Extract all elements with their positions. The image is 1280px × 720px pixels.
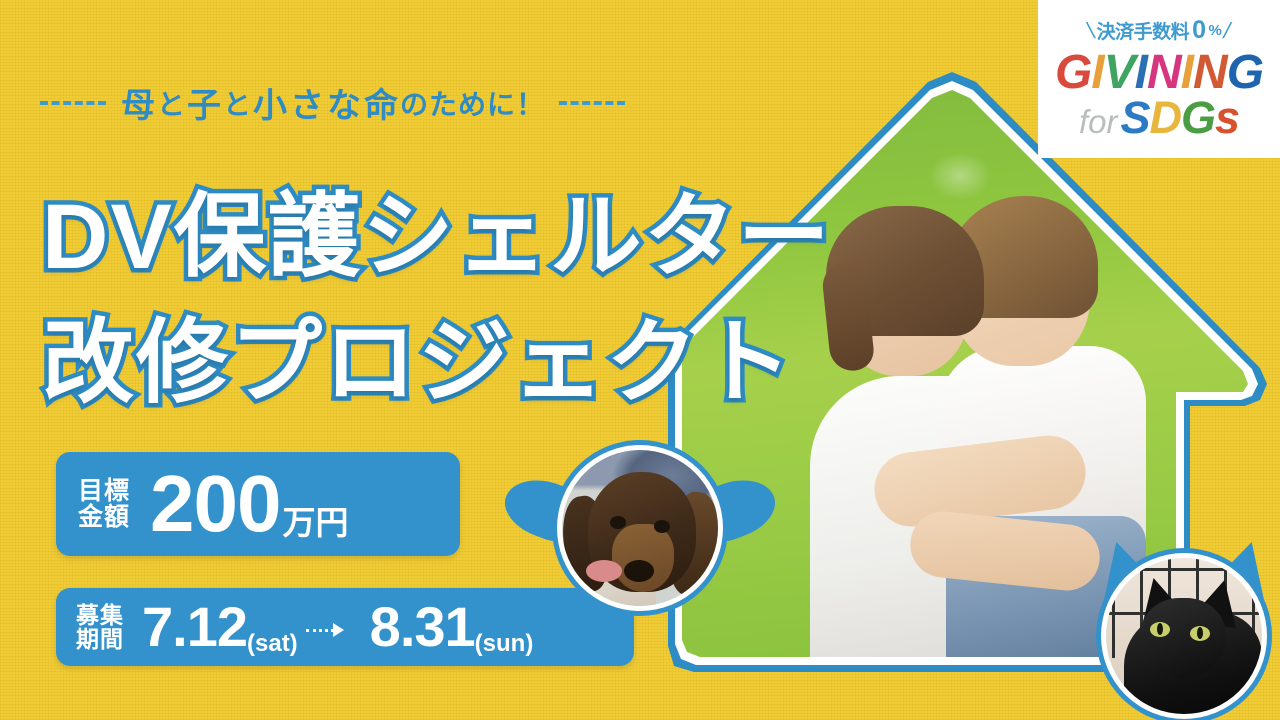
tagline-part-8: のために！ xyxy=(400,83,545,123)
giving-letter-6: N xyxy=(1193,49,1227,97)
fee-slash-right-icon: / xyxy=(1221,18,1233,44)
period-start-dow: (sat) xyxy=(247,630,298,658)
cat-head xyxy=(1140,598,1226,678)
payment-fee-badge: \ 決済手数料 0 % / xyxy=(1088,16,1230,45)
dashed-line-right-icon xyxy=(559,101,625,105)
giving-letter-3: I xyxy=(1135,49,1147,97)
tagline-part-3: と xyxy=(223,83,252,123)
goal-amount-box: 目標 金額 200 万円 xyxy=(56,452,460,556)
sdgs-letters: SDGs xyxy=(1120,95,1239,140)
goal-label-line2: 金額 xyxy=(78,504,130,531)
giving-letter-1: I xyxy=(1091,49,1103,97)
fee-percent-sign: % xyxy=(1209,22,1222,39)
sdgs-letter-1: D xyxy=(1149,95,1181,140)
period-label-line1: 募集 xyxy=(76,603,124,627)
dog-nose xyxy=(624,560,654,582)
cage-bar-horizontal-0 xyxy=(1106,568,1262,571)
cat-pupil-left xyxy=(1157,623,1163,635)
dog-photo-badge xyxy=(552,440,728,616)
dog-eye-left xyxy=(610,516,626,529)
page-title-line1: DV保護シェルター xyxy=(42,162,832,295)
cat-pupil-right xyxy=(1197,627,1203,639)
campaign-poster: \ 決済手数料 0 % / GIVINING for SDGs 母と子と小さな命… xyxy=(0,0,1280,720)
dog-tongue xyxy=(586,560,622,582)
for-sdgs-wordmark: for SDGs xyxy=(1079,95,1239,140)
tagline-row: 母と子と小さな命のために！ xyxy=(40,78,625,127)
fee-slash-left-icon: \ xyxy=(1085,18,1097,44)
giving-letter-0: G xyxy=(1055,49,1091,97)
dog-muzzle xyxy=(612,524,674,592)
giving-letter-2: V xyxy=(1104,49,1135,97)
tagline-part-7: 命 xyxy=(363,78,400,127)
arrow-head xyxy=(333,623,344,637)
tagline-part-2: 子 xyxy=(186,78,223,127)
arrow-right-icon xyxy=(306,623,344,637)
cat-photo xyxy=(1106,558,1262,714)
dashed-line-left-icon xyxy=(40,101,106,105)
period-end-date: 8.31 xyxy=(370,599,475,655)
tagline-part-6: な xyxy=(326,78,363,127)
goal-amount-unit: 万円 xyxy=(283,496,349,544)
tagline-part-1: と xyxy=(157,83,186,123)
giving-letter-5: I xyxy=(1181,49,1193,97)
dog-photo xyxy=(562,450,718,606)
goal-label: 目標 金額 xyxy=(78,478,130,531)
giving-letter-4: N xyxy=(1147,49,1181,97)
tagline-part-5: さ xyxy=(289,78,326,127)
cage-bar-vertical-0 xyxy=(1112,558,1115,658)
sdgs-letter-2: G xyxy=(1181,95,1215,140)
sdgs-letter-0: S xyxy=(1120,95,1149,140)
goal-amount-value: 200 xyxy=(150,464,280,544)
giving-letter-7: G xyxy=(1227,49,1263,97)
period-label: 募集 期間 xyxy=(76,603,124,652)
arrow-dots xyxy=(306,629,334,632)
goal-label-line1: 目標 xyxy=(78,478,130,505)
campaign-period-box: 募集 期間 7.12 (sat) 8.31 (sun) xyxy=(56,588,634,666)
tagline-part-0: 母 xyxy=(120,78,157,127)
for-text: for xyxy=(1079,105,1118,138)
tagline-part-4: 小 xyxy=(252,78,289,127)
giving-for-sdgs-card: \ 決済手数料 0 % / GIVINING for SDGs xyxy=(1038,0,1280,158)
dog-eye-right xyxy=(654,520,670,533)
sdgs-letter-3: s xyxy=(1215,95,1239,140)
giving-wordmark: GIVINING xyxy=(1055,49,1263,97)
period-start-date: 7.12 xyxy=(142,599,247,655)
cat-photo-badge xyxy=(1096,548,1272,720)
tagline-text: 母と子と小さな命のために！ xyxy=(120,78,545,127)
page-title-line2: 改修プロジェクト xyxy=(42,288,794,421)
fee-value: 0 xyxy=(1192,16,1205,45)
period-label-line2: 期間 xyxy=(76,627,124,651)
fee-label: 決済手数料 xyxy=(1097,17,1190,44)
period-end-dow: (sun) xyxy=(475,630,534,658)
